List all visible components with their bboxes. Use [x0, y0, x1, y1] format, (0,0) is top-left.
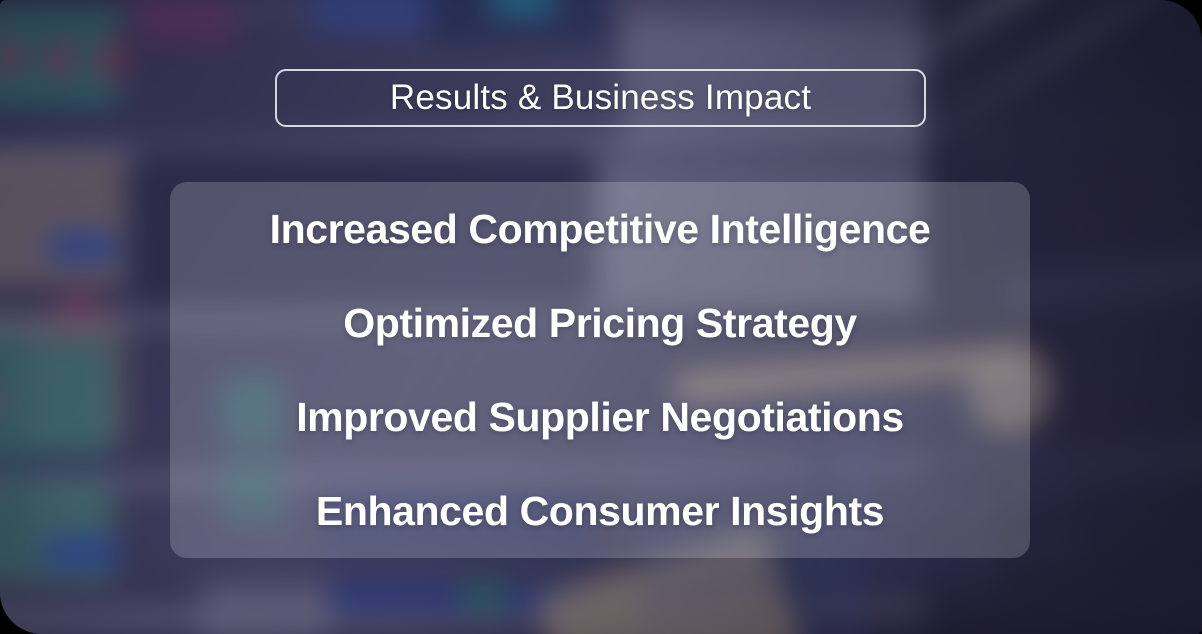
- page-title: Results & Business Impact: [390, 78, 811, 118]
- impact-point: Optimized Pricing Strategy: [170, 276, 1030, 370]
- impact-points-panel: Increased Competitive Intelligence Optim…: [170, 182, 1030, 558]
- slide-container: Results & Business Impact Increased Comp…: [0, 0, 1202, 634]
- impact-point: Increased Competitive Intelligence: [170, 182, 1030, 276]
- slide-title-box: Results & Business Impact: [275, 69, 926, 127]
- impact-point: Enhanced Consumer Insights: [170, 464, 1030, 558]
- impact-point: Improved Supplier Negotiations: [170, 370, 1030, 464]
